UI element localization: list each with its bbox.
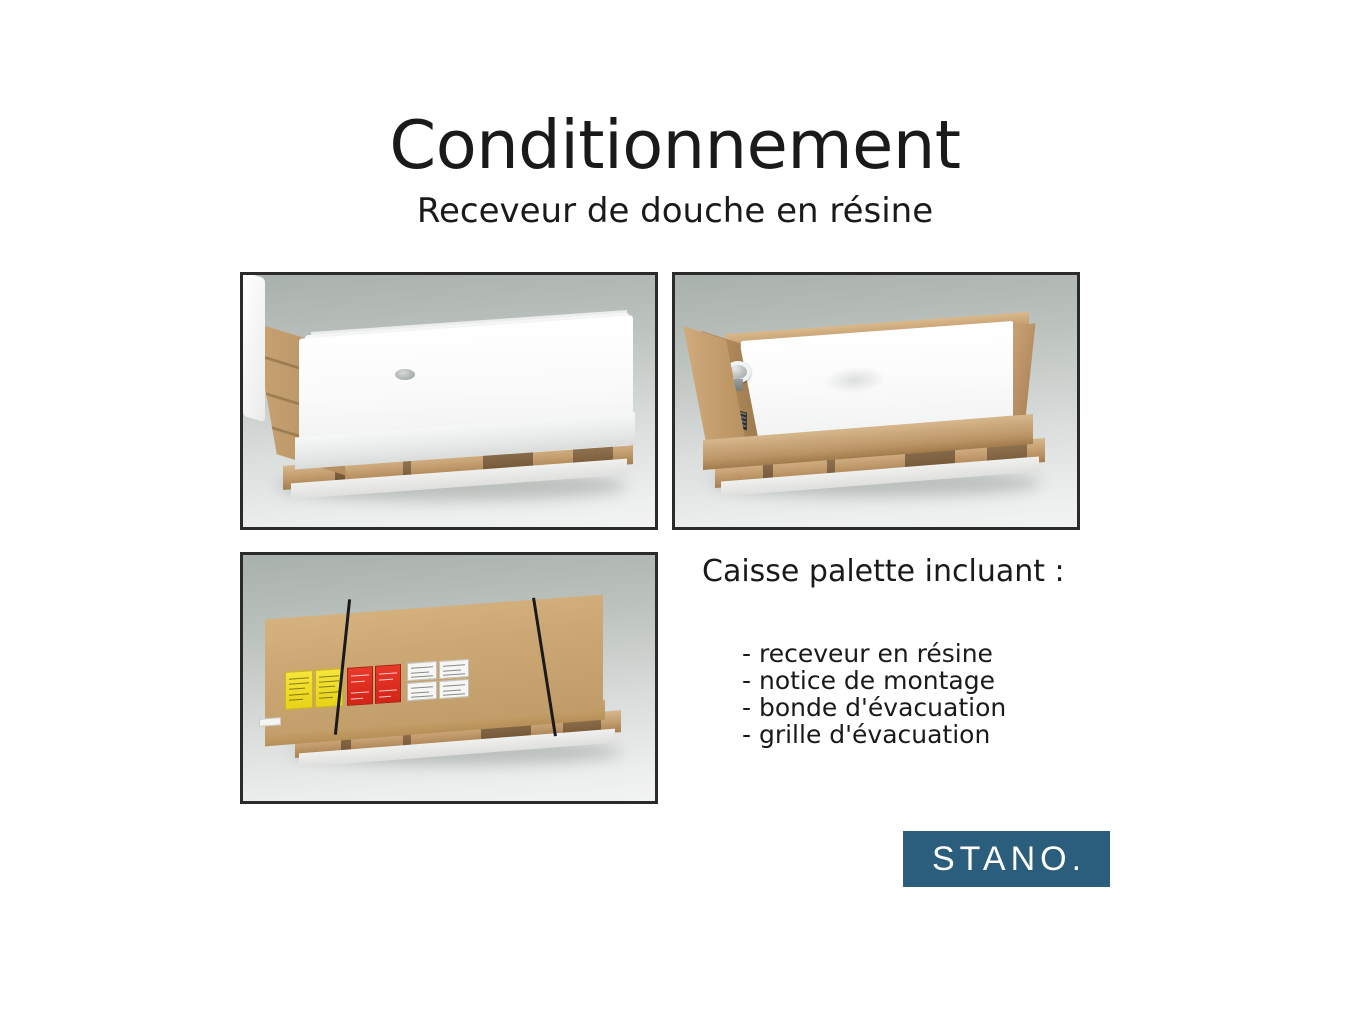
list-item: - receveur en résine — [742, 640, 1006, 667]
photo-3-scene — [243, 555, 655, 801]
side-label-tag — [259, 717, 281, 727]
photo-2-scene — [675, 275, 1077, 527]
handling-label-yellow — [285, 670, 313, 710]
protective-film-fold — [243, 272, 265, 422]
product-photo-closed-crate — [240, 552, 658, 804]
info-label-white — [439, 659, 469, 679]
info-label-white — [407, 661, 437, 681]
drain-hole — [395, 369, 415, 380]
list-item: - grille d'évacuation — [742, 721, 1006, 748]
info-label-white — [407, 681, 437, 701]
stano-logo: STANO. — [903, 831, 1110, 887]
foam-shading — [825, 365, 885, 395]
info-label-white — [439, 679, 469, 699]
list-item: - notice de montage — [742, 667, 1006, 694]
handling-label-red — [375, 664, 401, 704]
page-subtitle: Receveur de douche en résine — [0, 194, 1350, 228]
page-title: Conditionnement — [0, 112, 1350, 179]
product-photo-open-crate — [672, 272, 1080, 530]
list-item: - bonde d'évacuation — [742, 694, 1006, 721]
photo-1-scene — [243, 275, 655, 527]
product-photo-wrapped-tray — [240, 272, 658, 530]
caption-item-list: - receveur en résine - notice de montage… — [702, 640, 1006, 748]
stano-logo-text: STANO. — [927, 840, 1086, 879]
handling-label-red — [347, 666, 373, 706]
slide-canvas: Conditionnement Receveur de douche en ré… — [0, 0, 1350, 1012]
caption-heading: Caisse palette incluant : — [702, 554, 1065, 589]
